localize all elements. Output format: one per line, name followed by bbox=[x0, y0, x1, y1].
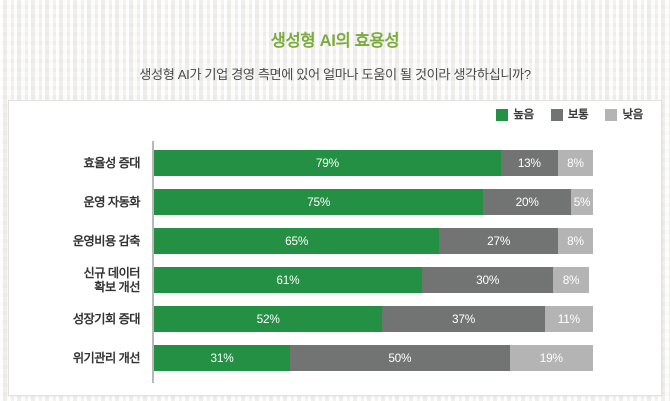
legend-item-label: 보통 bbox=[568, 109, 589, 121]
chart-header: 생성형 AI의 효용성 생성형 AI가 기업 경영 측면에 있어 얼마나 도움이… bbox=[0, 0, 670, 100]
legend-swatch-icon bbox=[605, 109, 617, 121]
bar-segment-low[interactable]: 5% bbox=[571, 189, 593, 215]
bar-segment-mid[interactable]: 30% bbox=[422, 267, 554, 293]
bar-row: 운영비용 감축65%27%8% bbox=[9, 228, 663, 254]
legend-item-1[interactable]: 보통 bbox=[551, 109, 589, 121]
page-subtitle: 생성형 AI가 기업 경영 측면에 있어 얼마나 도움이 될 것이라 생각하십니… bbox=[0, 64, 670, 83]
bar-row: 위기관리 개선31%50%19% bbox=[9, 345, 663, 371]
stacked-bar: 61%30%8% bbox=[154, 267, 593, 293]
page-title: 생성형 AI의 효용성 bbox=[0, 27, 670, 51]
legend-item-2[interactable]: 낮음 bbox=[605, 109, 643, 121]
bar-segment-low[interactable]: 8% bbox=[558, 150, 593, 176]
bar-segment-high[interactable]: 75% bbox=[154, 189, 483, 215]
legend-swatch-icon bbox=[496, 109, 508, 121]
bar-segment-mid[interactable]: 37% bbox=[382, 306, 544, 332]
bar-segment-low[interactable]: 11% bbox=[545, 306, 593, 332]
legend-item-label: 낮음 bbox=[622, 109, 643, 121]
stacked-bar: 52%37%11% bbox=[154, 306, 593, 332]
bar-row: 운영 자동화75%20%5% bbox=[9, 189, 663, 215]
bar-segment-high[interactable]: 52% bbox=[154, 306, 382, 332]
legend-item-label: 높음 bbox=[513, 109, 534, 121]
bar-row: 신규 데이터확보 개선61%30%8% bbox=[9, 267, 663, 293]
category-label: 위기관리 개선 bbox=[9, 345, 140, 371]
stacked-bar: 75%20%5% bbox=[154, 189, 593, 215]
category-label: 운영 자동화 bbox=[9, 189, 140, 215]
category-label: 운영비용 감축 bbox=[9, 228, 140, 254]
bar-row: 성장기회 증대52%37%11% bbox=[9, 306, 663, 332]
bar-segment-mid[interactable]: 50% bbox=[290, 345, 510, 371]
bar-segment-high[interactable]: 61% bbox=[154, 267, 422, 293]
bar-segment-high[interactable]: 79% bbox=[154, 150, 501, 176]
legend-swatch-icon bbox=[551, 109, 563, 121]
category-label: 성장기회 증대 bbox=[9, 306, 140, 332]
legend-item-0[interactable]: 높음 bbox=[496, 109, 534, 121]
bar-segment-mid[interactable]: 27% bbox=[439, 228, 558, 254]
chart-plot-area: 효율성 증대79%13%8%운영 자동화75%20%5%운영비용 감축65%27… bbox=[9, 139, 663, 389]
chart-legend: 높음보통낮음 bbox=[496, 109, 643, 121]
bar-segment-low[interactable]: 8% bbox=[553, 267, 588, 293]
bar-row: 효율성 증대79%13%8% bbox=[9, 150, 663, 176]
bar-segment-high[interactable]: 65% bbox=[154, 228, 439, 254]
bar-segment-low[interactable]: 8% bbox=[558, 228, 593, 254]
stacked-bar: 31%50%19% bbox=[154, 345, 593, 371]
category-label: 효율성 증대 bbox=[9, 150, 140, 176]
chart-card: 높음보통낮음 효율성 증대79%13%8%운영 자동화75%20%5%운영비용 … bbox=[8, 100, 662, 396]
bar-segment-mid[interactable]: 20% bbox=[483, 189, 571, 215]
bar-segment-high[interactable]: 31% bbox=[154, 345, 290, 371]
bar-segment-mid[interactable]: 13% bbox=[501, 150, 558, 176]
bar-segment-low[interactable]: 19% bbox=[510, 345, 593, 371]
category-label: 신규 데이터확보 개선 bbox=[9, 267, 140, 293]
stacked-bar: 65%27%8% bbox=[154, 228, 593, 254]
stacked-bar: 79%13%8% bbox=[154, 150, 593, 176]
